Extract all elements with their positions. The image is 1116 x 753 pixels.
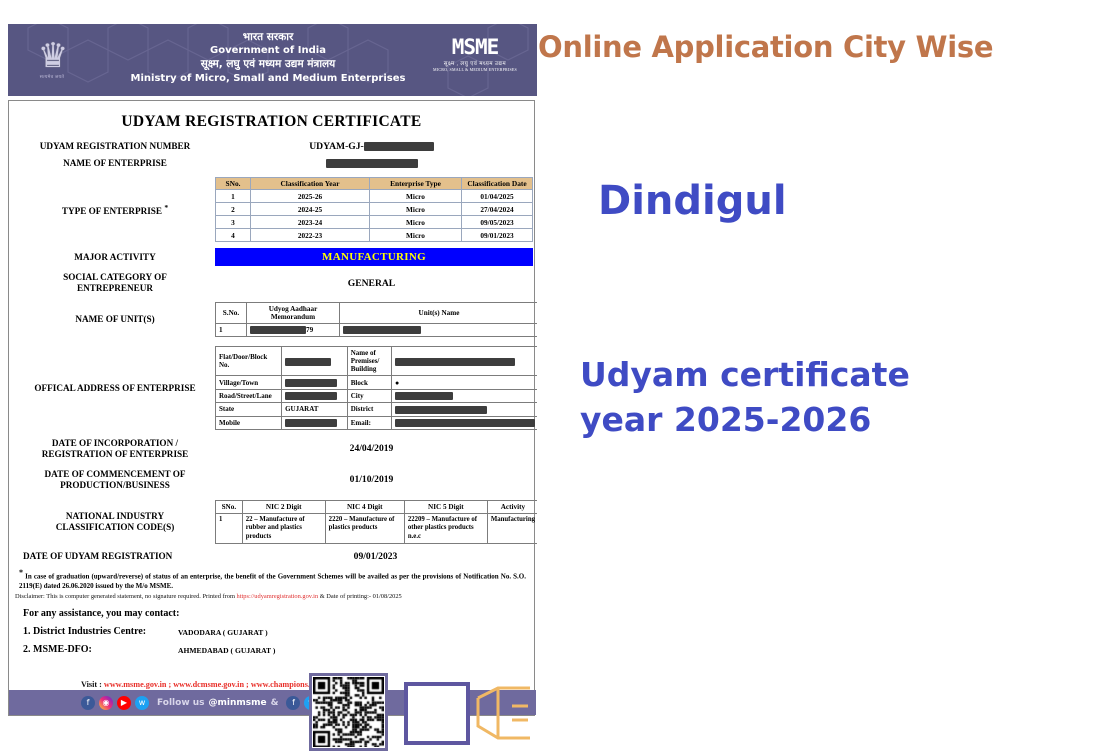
disclaimer-line: Disclaimer: This is computer generated s… (9, 592, 534, 601)
row-major-activity: MAJOR ACTIVITY MANUFACTURING (9, 248, 534, 266)
row-social-category: SOCIAL CATEGORY OFENTREPRENEUR GENERAL (9, 272, 534, 294)
village-value (282, 376, 348, 389)
row-official-address: OFFICAL ADDRESS OF ENTERPRISE Flat/Door/… (9, 346, 534, 430)
msme-logo-english-subtitle: MICRO, SMALL & MEDIUM ENTERPRISES (425, 67, 525, 72)
commencement-date-value: 01/10/2019 (215, 474, 528, 485)
udyam-registration-date-label: DATE OF UDYAM REGISTRATION (15, 551, 223, 562)
registration-number-text: UDYAM-GJ- (309, 141, 364, 152)
col-classification-date: Classification Date (462, 178, 533, 190)
minmsme-handle[interactable]: @minmsme (209, 698, 267, 708)
redacted-unit-name (343, 326, 421, 334)
table-row: Mobile Email: (216, 416, 538, 429)
visit-prefix: Visit : (81, 680, 104, 689)
graduation-footnote: * In case of graduation (upward/reverse)… (9, 566, 534, 591)
col-nic5: NIC 5 Digit (404, 500, 487, 513)
cell-sno: 1 (216, 190, 251, 203)
follow-us-label: Follow us (157, 698, 205, 708)
disclaimer-prefix: Disclaimer: This is computer generated s… (15, 593, 237, 600)
twitter-icon[interactable]: w (135, 696, 149, 710)
road-label: Road/Street/Lane (216, 389, 282, 402)
state-value: GUJARAT (282, 403, 348, 416)
premises-value (392, 347, 538, 376)
mobile-value (282, 416, 348, 429)
msme-logo: MSME सूक्ष्म , लघु एवं मध्यम उद्यम MICRO… (425, 36, 525, 72)
table-row: State GUJARAT District (216, 403, 538, 416)
col-sno: SNo. (216, 500, 243, 513)
district-value (392, 403, 538, 416)
udyam-registration-date-value: 09/01/2023 (223, 551, 528, 562)
table-row: 1 22 – Manufacture of rubber and plastic… (216, 513, 538, 544)
cell-year: 2024-25 (251, 203, 370, 216)
flat-label: Flat/Door/Block No. (216, 347, 282, 376)
redacted-flat (285, 358, 331, 366)
premises-label: Name of Premises/ Building (347, 347, 391, 376)
qr-code[interactable] (309, 673, 388, 751)
uam-suffix: 79 (306, 326, 313, 334)
nic-table: SNo. NIC 2 Digit NIC 4 Digit NIC 5 Digit… (215, 500, 537, 545)
unit-table: S.No. Udyog Aadhaar Memorandum Unit(s) N… (215, 302, 537, 337)
cell-uam-number: 79 (247, 324, 340, 337)
cell-sno: 4 (216, 229, 251, 242)
hindi-ministry-label: सूक्ष्म, लघु एवं मध्यम उद्यम मंत्रालय (118, 57, 418, 72)
government-title-block: भारत सरकार Government of India सूक्ष्म, … (118, 30, 418, 86)
state-label: State (216, 403, 282, 416)
instagram-icon[interactable]: ◉ (99, 696, 113, 710)
incorporation-date-label: DATE OF INCORPORATION /REGISTRATION OF E… (15, 438, 215, 460)
cell-sno: 1 (216, 324, 247, 337)
village-label: Village/Town (216, 376, 282, 389)
col-udyog-aadhaar: Udyog Aadhaar Memorandum (247, 303, 340, 324)
contact-dfo: 2. MSME-DFO: AHMEDABAD ( GUJARAT ) (9, 637, 534, 655)
name-of-units-label: NAME OF UNIT(S) (15, 314, 215, 325)
cell-nic4: 2220 – Manufacture of plastics products (325, 513, 404, 544)
emblem-motto: सत्यमेव जयते (40, 74, 65, 80)
redacted-enterprise-name (326, 159, 418, 168)
row-name-of-units: NAME OF UNIT(S) S.No. Udyog Aadhaar Memo… (9, 302, 534, 337)
cell-date: 09/05/2023 (462, 216, 533, 229)
type-of-enterprise-label: TYPE OF ENTERPRISE * (15, 202, 215, 217)
table-header-row: S.No. Udyog Aadhaar Memorandum Unit(s) N… (216, 303, 538, 324)
type-of-enterprise-text: TYPE OF ENTERPRISE (62, 206, 162, 216)
graduation-footnote-text: In case of graduation (upward/reverse) o… (19, 573, 526, 591)
flat-value (282, 347, 348, 376)
facebook-icon-secondary[interactable]: f (286, 696, 300, 710)
english-government-label: Government of India (118, 44, 418, 57)
nic-codes-label: NATIONAL INDUSTRYCLASSIFICATION CODE(S) (15, 511, 215, 533)
cell-nic5: 22209 – Manufacture of other plastics pr… (404, 513, 487, 544)
social-category-label: SOCIAL CATEGORY OFENTREPRENEUR (15, 272, 215, 294)
table-row: 3 2023-24 Micro 09/05/2023 (216, 216, 533, 229)
redacted-district (395, 406, 487, 414)
cell-year: 2022-23 (251, 229, 370, 242)
contact-dic: 1. District Industries Centre: VADODARA … (9, 619, 534, 637)
commencement-date-label: DATE OF COMMENCEMENT OFPRODUCTION/BUSINE… (15, 469, 215, 491)
col-nic4: NIC 4 Digit (325, 500, 404, 513)
col-nic2: NIC 2 Digit (242, 500, 325, 513)
mobile-label: Mobile (216, 416, 282, 429)
cell-type: Micro (370, 190, 462, 203)
row-nic-codes: NATIONAL INDUSTRYCLASSIFICATION CODE(S) … (9, 500, 534, 545)
col-unit-name: Unit(s) Name (340, 303, 538, 324)
msme-logo-mark: MSME (425, 36, 525, 58)
youtube-icon[interactable]: ▶ (117, 696, 131, 710)
row-type-of-enterprise: TYPE OF ENTERPRISE * SNo. Classification… (9, 177, 534, 242)
cell-year: 2023-24 (251, 216, 370, 229)
table-row: Flat/Door/Block No. Name of Premises/ Bu… (216, 347, 538, 376)
cell-sno: 3 (216, 216, 251, 229)
table-row: 1 79 (216, 324, 538, 337)
row-commencement-date: DATE OF COMMENCEMENT OFPRODUCTION/BUSINE… (9, 469, 534, 491)
cell-type: Micro (370, 203, 462, 216)
table-header-row: SNo. Classification Year Enterprise Type… (216, 178, 533, 190)
major-activity-label: MAJOR ACTIVITY (15, 252, 215, 263)
redacted-city (395, 392, 453, 400)
road-value (282, 389, 348, 402)
email-label: Email: (347, 416, 391, 429)
block-value: ● (392, 376, 538, 389)
redacted-village (285, 379, 337, 387)
ampersand-separator: & (271, 698, 279, 708)
table-row: 2 2024-25 Micro 27/04/2024 (216, 203, 533, 216)
row-udyam-registration-date: DATE OF UDYAM REGISTRATION 09/01/2023 (9, 551, 534, 562)
cell-date: 01/04/2025 (462, 190, 533, 203)
enterprise-name-label: NAME OF ENTERPRISE (15, 158, 215, 169)
table-row: 4 2022-23 Micro 09/01/2023 (216, 229, 533, 242)
col-sno: SNo. (216, 178, 251, 190)
assistance-title: For any assistance, you may contact: (9, 601, 534, 619)
page-title: Online Application City Wise (538, 30, 1116, 64)
address-table: Flat/Door/Block No. Name of Premises/ Bu… (215, 346, 537, 430)
district-label: District (347, 403, 391, 416)
redacted-uam (250, 326, 306, 334)
col-enterprise-type: Enterprise Type (370, 178, 462, 190)
udyam-portal-link[interactable]: https://udyamregistration.gov.in (237, 593, 319, 600)
col-activity: Activity (487, 500, 537, 513)
emblem-glyph: ♛ (38, 42, 66, 72)
qr-code-canvas (313, 677, 384, 747)
enterprise-name-value (215, 158, 528, 169)
dic-label: 1. District Industries Centre: (23, 626, 178, 637)
certificate-body: UDYAM REGISTRATION CERTIFICATE UDYAM REG… (8, 100, 535, 716)
udyam-certificate-document: ♛ सत्यमेव जयते भारत सरकार Government of … (8, 24, 537, 746)
col-sno: S.No. (216, 303, 247, 324)
dfo-value: AHMEDABAD ( GUJARAT ) (178, 644, 275, 655)
official-address-label: OFFICAL ADDRESS OF ENTERPRISE (15, 383, 215, 394)
classification-table: SNo. Classification Year Enterprise Type… (215, 177, 533, 242)
redacted-email (395, 419, 535, 427)
block-label: Block (347, 376, 391, 389)
redacted-registration-number (364, 142, 434, 151)
table-row: Village/Town Block ● (216, 376, 538, 389)
cell-type: Micro (370, 216, 462, 229)
table-row: Road/Street/Lane City (216, 389, 538, 402)
hexagon-decoration-icon (468, 676, 538, 750)
empty-placeholder-box (404, 682, 470, 745)
english-ministry-label: Ministry of Micro, Small and Medium Ente… (118, 72, 418, 86)
social-category-value: GENERAL (215, 278, 528, 289)
cell-unit-name (340, 324, 538, 337)
registration-number-value: UDYAM-GJ- (215, 141, 528, 152)
major-activity-banner: MANUFACTURING (215, 248, 533, 266)
cell-year: 2025-26 (251, 190, 370, 203)
city-name-label: Dindigul (598, 178, 787, 224)
cell-type: Micro (370, 229, 462, 242)
dfo-label: 2. MSME-DFO: (23, 644, 178, 655)
certificate-year-line2: year 2025-2026 (580, 400, 871, 439)
ashoka-emblem-icon: ♛ सत्यमेव जयते (22, 30, 82, 92)
certificate-year-line1: Udyam certificate (580, 355, 910, 394)
msme-logo-hindi-subtitle: सूक्ष्म , लघु एवं मध्यम उद्यम (425, 59, 525, 67)
disclaimer-suffix: & Date of printing:- 01/08/2025 (318, 593, 402, 600)
table-header-row: SNo. NIC 2 Digit NIC 4 Digit NIC 5 Digit… (216, 500, 538, 513)
ministry-header-banner: ♛ सत्यमेव जयते भारत सरकार Government of … (8, 24, 537, 96)
cell-date: 27/04/2024 (462, 203, 533, 216)
visit-urls[interactable]: www.msme.gov.in ; www.dcmsme.gov.in ; ww… (104, 680, 331, 689)
redacted-mobile (285, 419, 337, 427)
cell-nic2: 22 – Manufacture of rubber and plastics … (242, 513, 325, 544)
certificate-year-label: Udyam certificate year 2025-2026 (580, 352, 1000, 442)
incorporation-date-value: 24/04/2019 (215, 443, 528, 454)
facebook-icon[interactable]: f (81, 696, 95, 710)
dic-value: VADODARA ( GUJARAT ) (178, 626, 268, 637)
registration-number-label: UDYAM REGISTRATION NUMBER (15, 141, 215, 152)
email-value (392, 416, 538, 429)
hindi-government-label: भारत सरकार (118, 30, 418, 44)
redacted-road (285, 392, 337, 400)
table-row: 1 2025-26 Micro 01/04/2025 (216, 190, 533, 203)
cell-date: 09/01/2023 (462, 229, 533, 242)
city-label: City (347, 389, 391, 402)
city-value (392, 389, 538, 402)
redacted-premises (395, 358, 515, 366)
cell-sno: 1 (216, 513, 243, 544)
row-enterprise-name: NAME OF ENTERPRISE (9, 158, 534, 169)
certificate-title: UDYAM REGISTRATION CERTIFICATE (9, 113, 534, 131)
row-incorporation-date: DATE OF INCORPORATION /REGISTRATION OF E… (9, 438, 534, 460)
cell-activity: Manufacturing (487, 513, 537, 544)
cell-sno: 2 (216, 203, 251, 216)
col-classification-year: Classification Year (251, 178, 370, 190)
row-registration-number: UDYAM REGISTRATION NUMBER UDYAM-GJ- (9, 141, 534, 152)
